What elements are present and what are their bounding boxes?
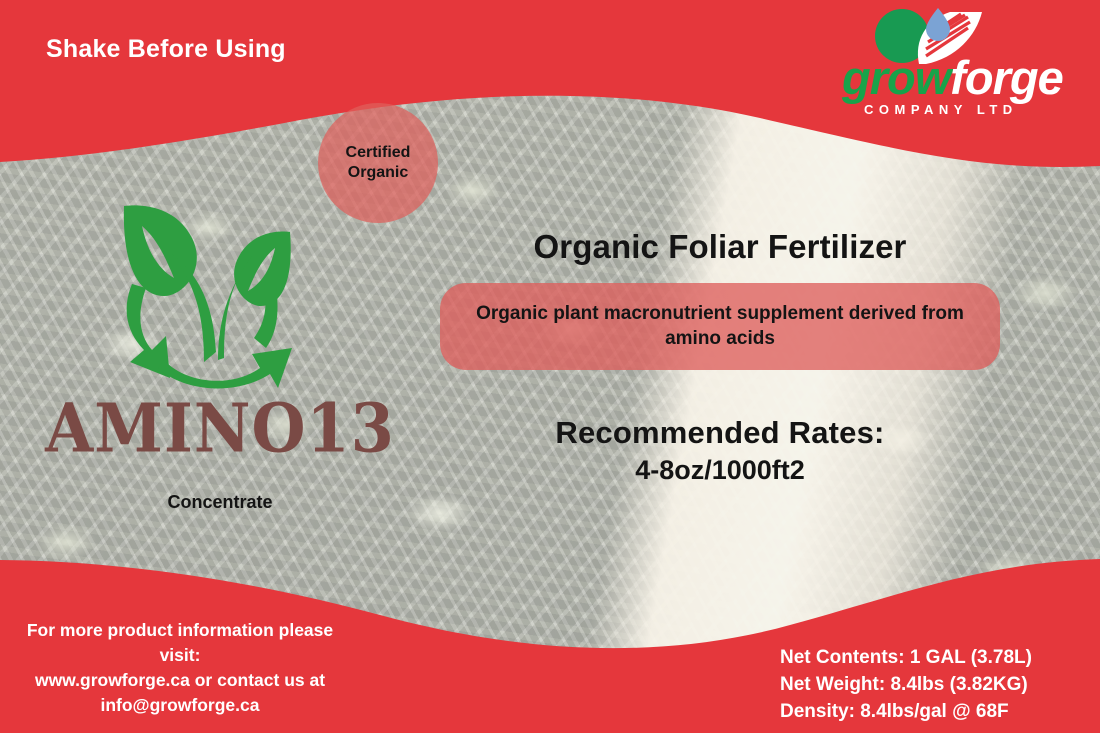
product-name: AMINO13 <box>0 396 440 463</box>
contact-line-2: visit: <box>160 645 201 665</box>
product-form: Concentrate <box>0 492 440 513</box>
certified-organic-badge: Certified Organic <box>318 103 438 223</box>
contact-line-1: For more product information please <box>27 620 333 640</box>
net-weight: Net Weight: 8.4lbs (3.82KG) <box>780 672 1080 699</box>
product-label: Shake Before Using growforge COMPANY LTD… <box>0 0 1100 733</box>
net-contents: Net Contents: 1 GAL (3.78L) <box>780 645 1080 672</box>
brand-logo: growforge COMPANY LTD <box>842 6 1082 136</box>
badge-line-2: Organic <box>348 164 408 181</box>
brand-wordmark-forge: forge <box>950 51 1063 104</box>
contact-email: info@growforge.ca <box>100 695 259 715</box>
shake-instruction: Shake Before Using <box>46 35 286 64</box>
density: Density: 8.4lbs/gal @ 68F <box>780 699 1080 726</box>
contact-info: For more product information please visi… <box>10 618 350 717</box>
net-info: Net Contents: 1 GAL (3.78L) Net Weight: … <box>780 645 1080 726</box>
plant-recycle-icon <box>112 192 312 392</box>
contact-website: www.growforge.ca or contact us at <box>35 670 325 690</box>
product-title: Organic Foliar Fertilizer <box>440 228 1000 266</box>
brand-wordmark-grow: grow <box>842 51 950 104</box>
recommended-rates: Recommended Rates: 4-8oz/1000ft2 <box>440 415 1000 486</box>
brand-subtitle: COMPANY LTD <box>864 102 1018 117</box>
product-description: Organic plant macronutrient supplement d… <box>440 283 1000 370</box>
rates-title: Recommended Rates: <box>440 415 1000 451</box>
certified-organic-label: Certified Organic <box>346 143 411 184</box>
brand-wordmark: growforge <box>842 54 1082 101</box>
rates-value: 4-8oz/1000ft2 <box>440 455 1000 486</box>
badge-line-1: Certified <box>346 144 411 161</box>
water-droplet-icon <box>926 8 950 41</box>
